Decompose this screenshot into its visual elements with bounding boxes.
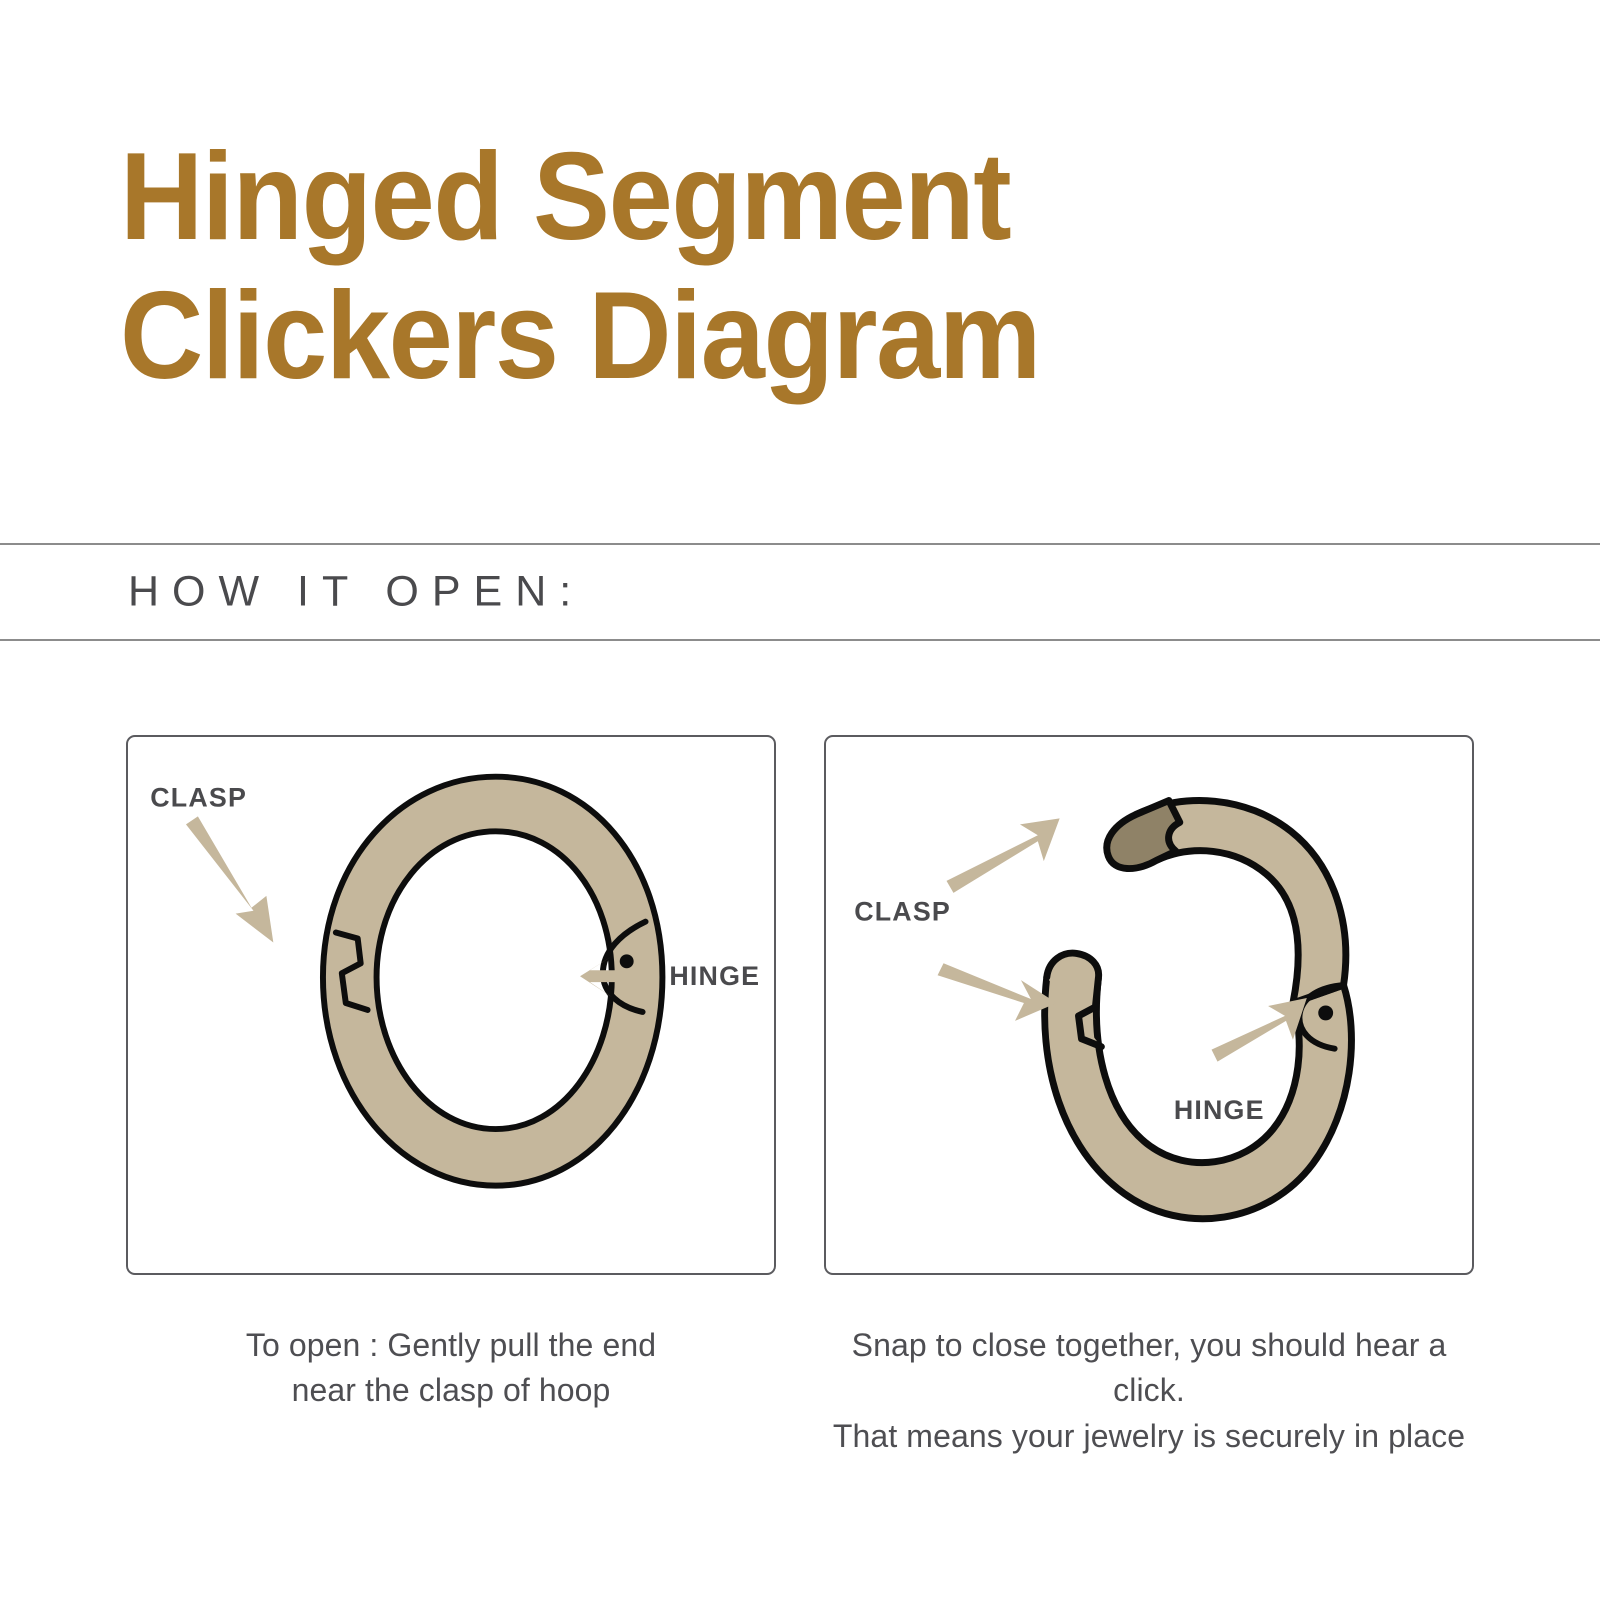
section-band: HOW IT OPEN: <box>0 543 1600 641</box>
panel-closed-ring: CLASP HINGE To open : Gently pull the en… <box>126 735 776 1459</box>
panel-open-ring: CLASP HINGE Snap to close together, you … <box>824 735 1474 1459</box>
clasp-label: CLASP <box>150 782 247 812</box>
caption-open-line-2: That means your jewelry is securely in p… <box>819 1414 1479 1459</box>
hinge-pivot-dot <box>620 954 634 968</box>
hinge-label: HINGE <box>1174 1095 1265 1125</box>
clasp-arrow-upper <box>947 818 1060 892</box>
page-title: Hinged Segment Clickers Diagram <box>120 128 1420 406</box>
diagram-frame-closed: CLASP HINGE <box>126 735 776 1275</box>
caption-open: Snap to close together, you should hear … <box>819 1323 1479 1459</box>
hinge-arrow <box>1212 998 1307 1062</box>
ring-open-graphic <box>1045 800 1352 1218</box>
caption-closed-line-1: To open : Gently pull the end <box>121 1323 781 1368</box>
caption-open-line-1: Snap to close together, you should hear … <box>819 1323 1479 1414</box>
caption-closed: To open : Gently pull the end near the c… <box>121 1323 781 1414</box>
hinge-label: HINGE <box>669 961 760 991</box>
hinge-pivot-dot <box>1318 1005 1333 1020</box>
section-heading: HOW IT OPEN: <box>128 568 584 617</box>
title-line-1: Hinged Segment <box>120 128 1329 267</box>
infographic-page: Hinged Segment Clickers Diagram HOW IT O… <box>0 0 1600 1600</box>
clasp-arrow-lower <box>938 963 1057 1021</box>
diagram-frame-open: CLASP HINGE <box>824 735 1474 1275</box>
title-line-2: Clickers Diagram <box>120 267 1329 406</box>
clasp-arrow <box>186 816 273 942</box>
clasp-label: CLASP <box>854 897 951 927</box>
diagram-panels: CLASP HINGE To open : Gently pull the en… <box>0 735 1600 1459</box>
caption-closed-line-2: near the clasp of hoop <box>121 1368 781 1413</box>
